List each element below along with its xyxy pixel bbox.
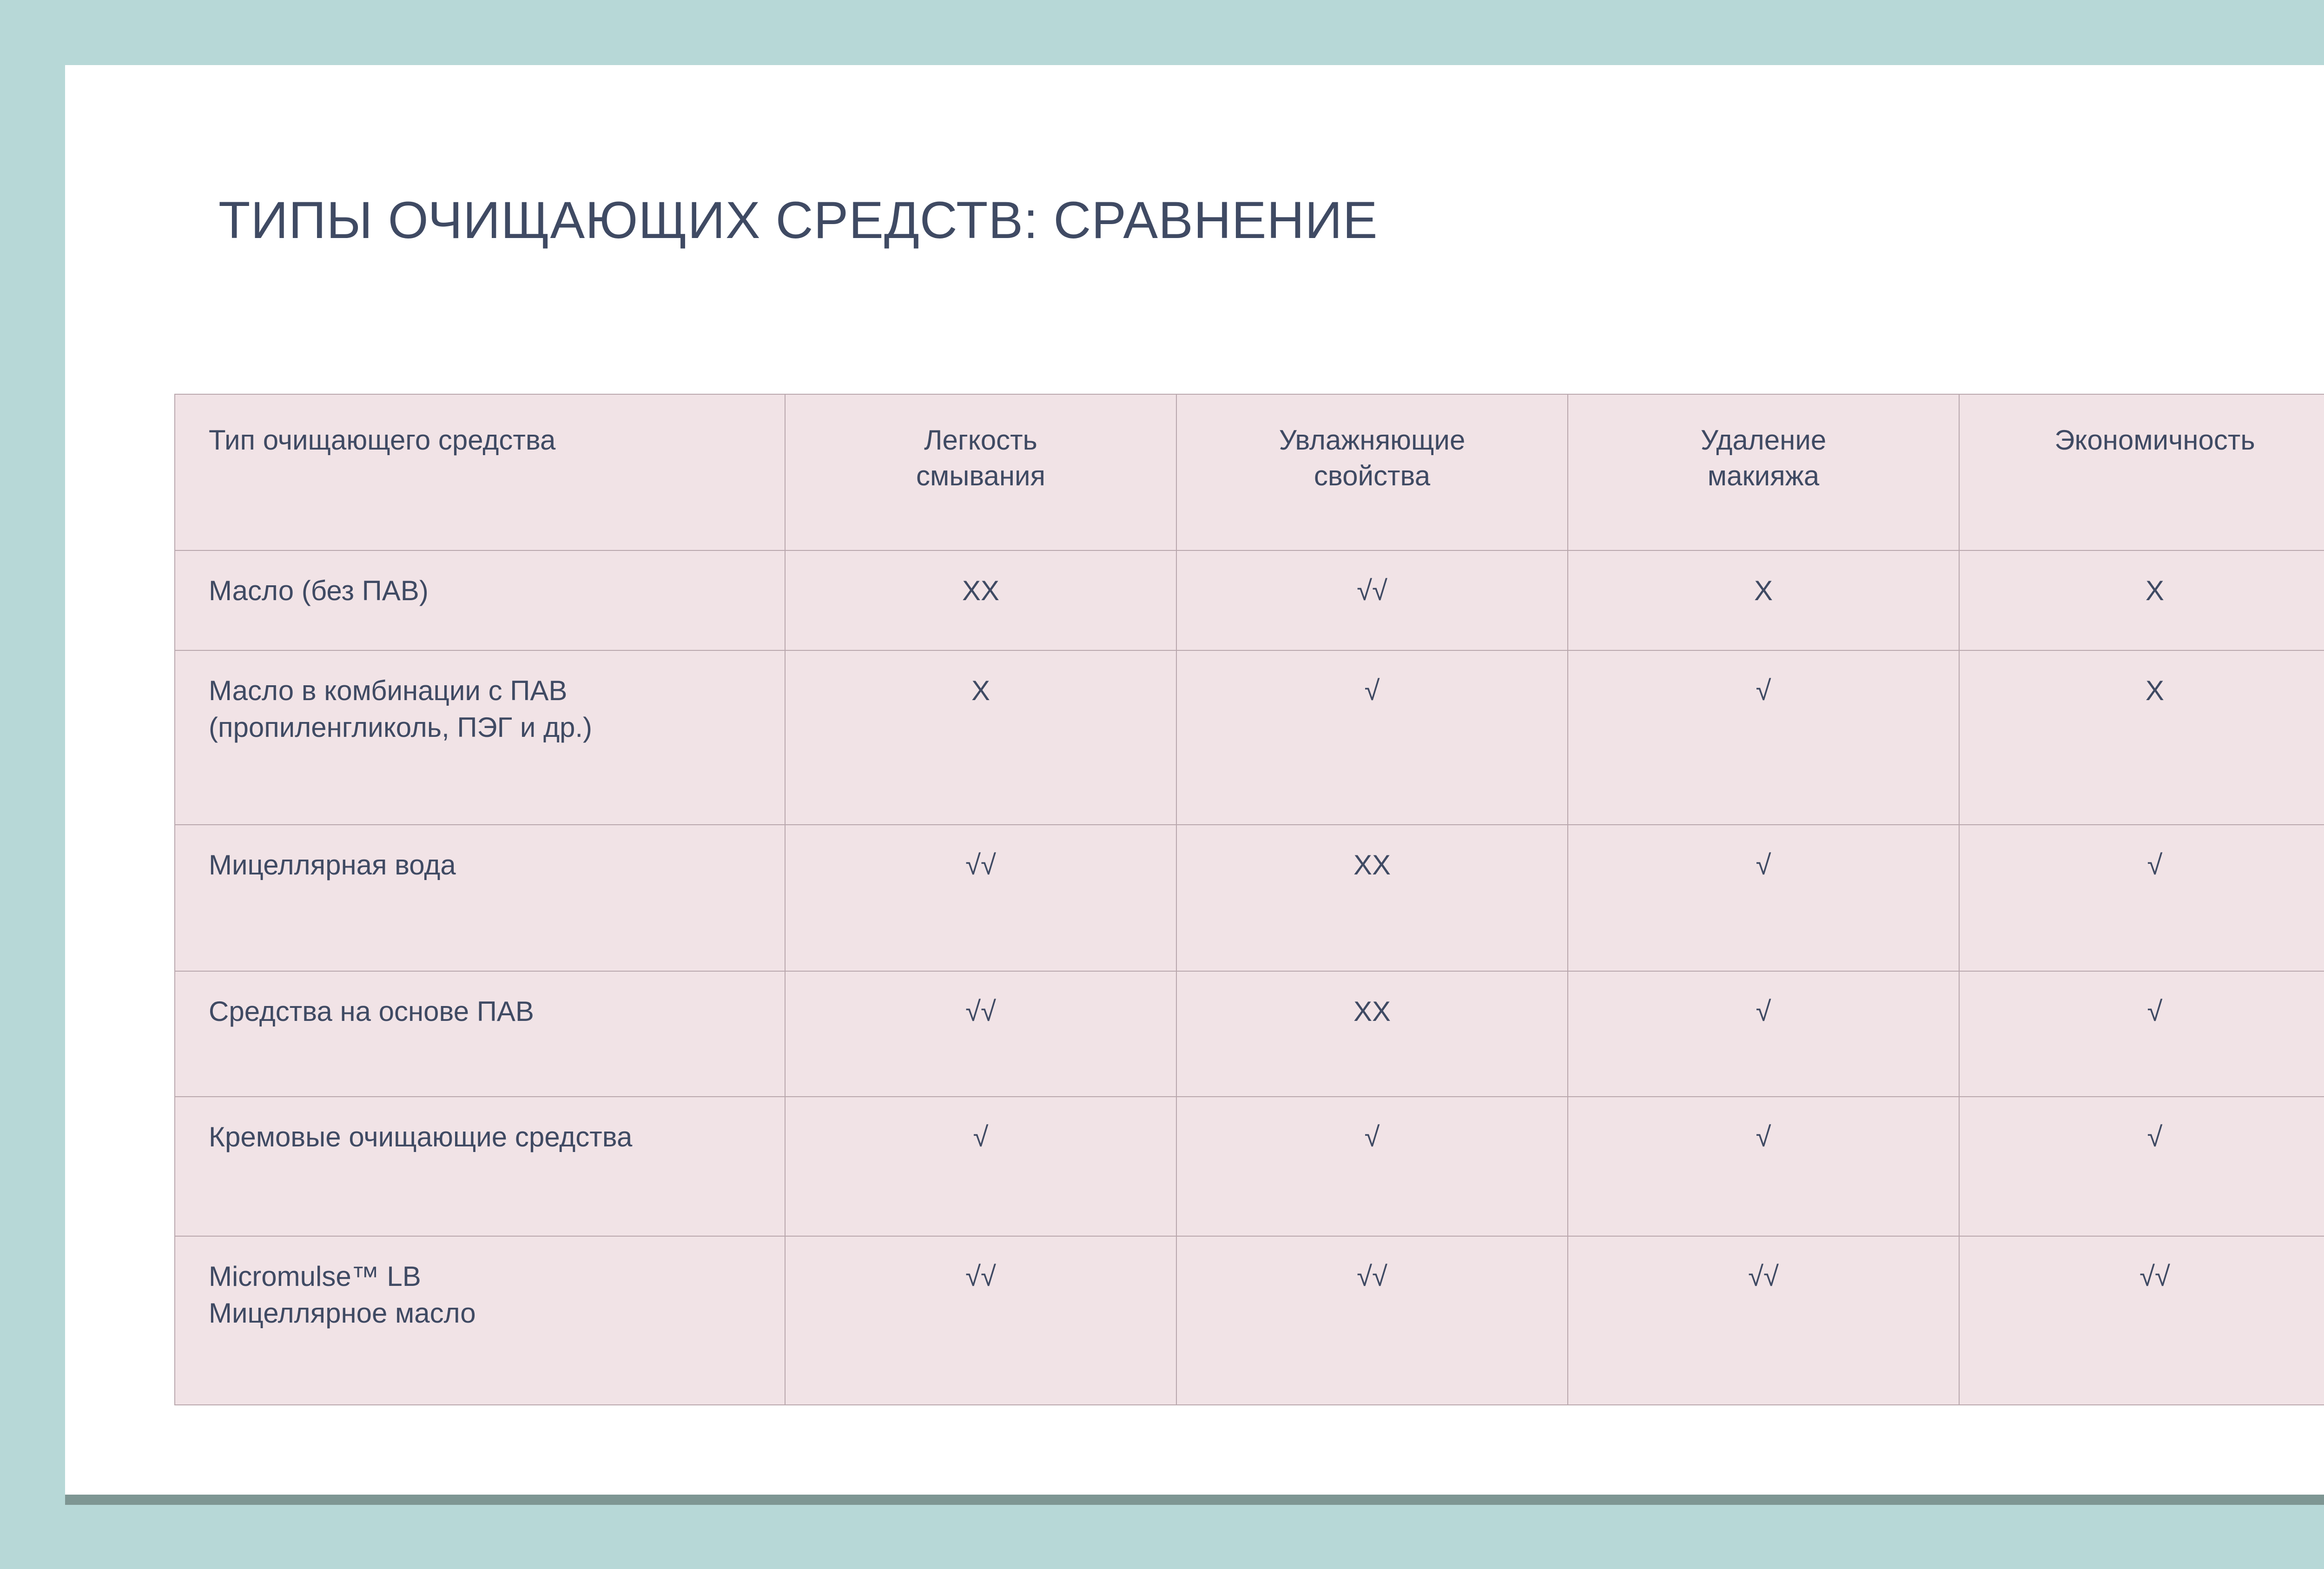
column-header-economy: Экономичность bbox=[1959, 394, 2324, 550]
cell-makeup-removal: √ bbox=[1568, 971, 1959, 1097]
cell-moisturizing: √ bbox=[1176, 1097, 1568, 1236]
cell-type: Масло в комбинации с ПАВ (пропиленгликол… bbox=[175, 650, 785, 825]
cell-economy: X bbox=[1959, 550, 2324, 650]
cell-type: Масло (без ПАВ) bbox=[175, 550, 785, 650]
column-header-makeup-removal-line1: Удаление bbox=[1701, 424, 1826, 456]
cell-rinse: XX bbox=[785, 550, 1176, 650]
cell-moisturizing: XX bbox=[1176, 971, 1568, 1097]
cell-makeup-removal: √ bbox=[1568, 825, 1959, 971]
column-header-rinse-line2: смывания bbox=[916, 460, 1045, 491]
table-row: Масло в комбинации с ПАВ (пропиленгликол… bbox=[175, 650, 2324, 825]
column-header-makeup-removal: Удаление макияжа bbox=[1568, 394, 1959, 550]
column-header-makeup-removal-line2: макияжа bbox=[1708, 460, 1819, 491]
table-row: Мицеллярная вода √√ XX √ √ √ bbox=[175, 825, 2324, 971]
cell-rinse: √√ bbox=[785, 971, 1176, 1097]
cell-economy: √ bbox=[1959, 1097, 2324, 1236]
table-body: Масло (без ПАВ) XX √√ X X √ Масло в комб… bbox=[175, 550, 2324, 1405]
table-row: Кремовые очищающие средства √ √ √ √ XX bbox=[175, 1097, 2324, 1236]
cell-rinse: √√ bbox=[785, 1236, 1176, 1405]
cell-makeup-removal: X bbox=[1568, 550, 1959, 650]
cell-economy: √√ bbox=[1959, 1236, 2324, 1405]
column-header-rinse-line1: Легкость bbox=[924, 424, 1037, 456]
table-row: Средства на основе ПАВ √√ XX √ √ √ bbox=[175, 971, 2324, 1097]
table-header-row: Тип очищающего средства Легкость смывани… bbox=[175, 394, 2324, 550]
cell-type: Средства на основе ПАВ bbox=[175, 971, 785, 1097]
table-header: Тип очищающего средства Легкость смывани… bbox=[175, 394, 2324, 550]
table-row: Масло (без ПАВ) XX √√ X X √ bbox=[175, 550, 2324, 650]
cell-type: Мицеллярная вода bbox=[175, 825, 785, 971]
cell-economy: √ bbox=[1959, 971, 2324, 1097]
cell-rinse: √ bbox=[785, 1097, 1176, 1236]
product-brand-name: Micromulse™ LB bbox=[209, 1258, 769, 1295]
cell-rinse: X bbox=[785, 650, 1176, 825]
cell-makeup-removal: √√ bbox=[1568, 1236, 1959, 1405]
cell-economy: √ bbox=[1959, 825, 2324, 971]
cell-makeup-removal: √ bbox=[1568, 1097, 1959, 1236]
cleanser-comparison-table: Тип очищающего средства Легкость смывани… bbox=[174, 394, 2324, 1405]
cell-rinse: √√ bbox=[785, 825, 1176, 971]
column-header-moisturizing-line1: Увлажняющие bbox=[1279, 424, 1466, 456]
cell-moisturizing: √√ bbox=[1176, 1236, 1568, 1405]
cell-type: Кремовые очищающие средства bbox=[175, 1097, 785, 1236]
slide-accent-bar bbox=[65, 1495, 2324, 1505]
cell-moisturizing: √√ bbox=[1176, 550, 1568, 650]
cell-economy: X bbox=[1959, 650, 2324, 825]
column-header-moisturizing: Увлажняющие свойства bbox=[1176, 394, 1568, 550]
column-header-moisturizing-line2: свойства bbox=[1314, 460, 1430, 491]
cell-makeup-removal: √ bbox=[1568, 650, 1959, 825]
table-row-highlight: Micromulse™ LB Мицеллярное масло √√ √√ √… bbox=[175, 1236, 2324, 1405]
cell-moisturizing: XX bbox=[1176, 825, 1568, 971]
product-sub-label: Мицеллярное масло bbox=[209, 1295, 769, 1332]
column-header-rinse: Легкость смывания bbox=[785, 394, 1176, 550]
cell-moisturizing: √ bbox=[1176, 650, 1568, 825]
page-title: ТИПЫ ОЧИЩАЮЩИХ СРЕДСТВ: СРАВНЕНИЕ bbox=[218, 191, 1378, 251]
cell-type-product: Micromulse™ LB Мицеллярное масло bbox=[175, 1236, 785, 1405]
slide-card: ТИПЫ ОЧИЩАЮЩИХ СРЕДСТВ: СРАВНЕНИЕ Тип оч… bbox=[65, 65, 2324, 1495]
column-header-type: Тип очищающего средства bbox=[175, 394, 785, 550]
